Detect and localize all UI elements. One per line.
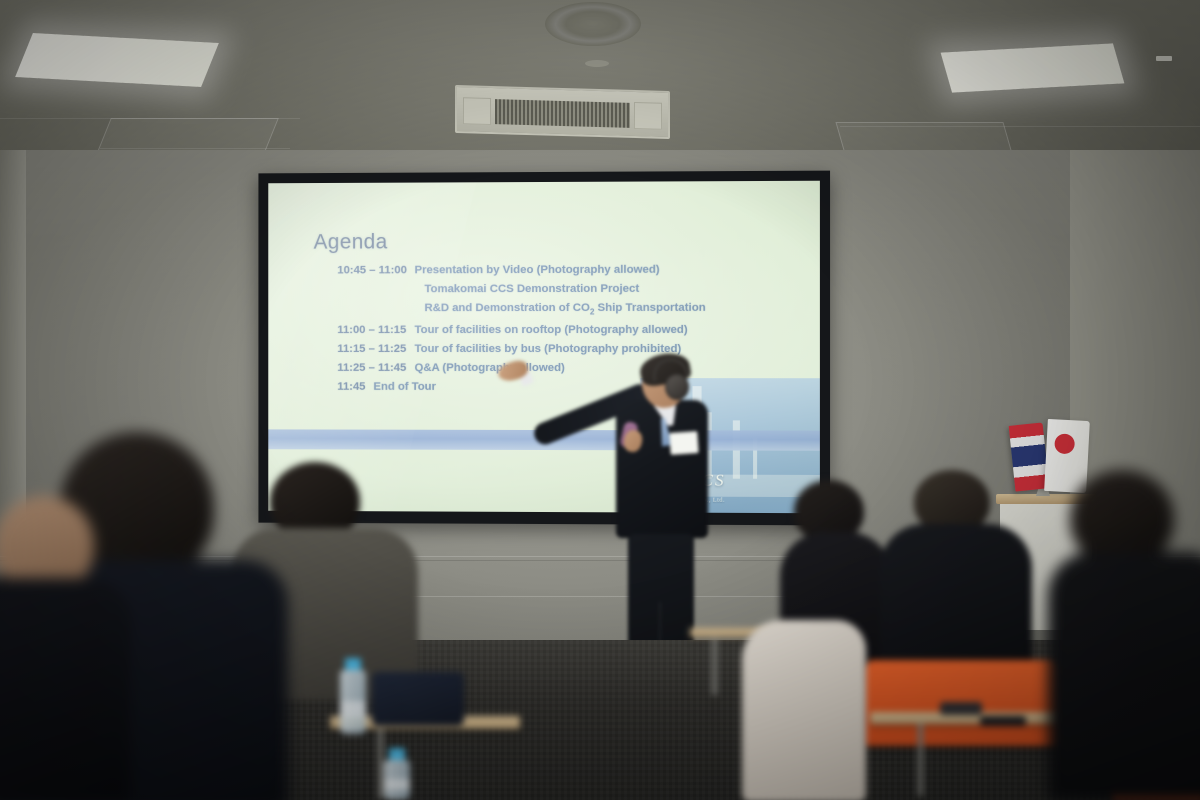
agenda-text: Presentation by Video (Photography allow… [415,264,660,277]
ceiling-air-vent [455,85,670,139]
agenda-text: R&D and Demonstration of CO2 Ship Transp… [415,302,706,317]
agenda-time: 10:45 – 11:00 [337,264,414,276]
agenda-text: Tour of facilities on rooftop (Photograp… [415,324,688,336]
agenda-text: Tomakomai CCS Demonstration Project [415,283,640,295]
attendee-far-right [1048,470,1200,800]
ceiling-light-recess-left [97,118,279,152]
attendee-torso [0,578,130,800]
slide-title: Agenda [314,230,388,254]
japan-flag-disc [1054,434,1075,455]
attendee-torso [1048,552,1200,800]
agenda-time: 11:45 [337,381,373,393]
attendee-right-c [742,620,862,800]
attendee-left [0,496,120,800]
attendee-torso [742,620,866,800]
conference-room-photo: JCCS Japan CCS Co., Ltd. Agenda 10:45 – … [0,0,1200,800]
ceiling-speaker-icon [545,2,641,46]
desk-object [940,702,982,715]
agenda-row: Tomakomai CCS Demonstration Project [337,283,805,296]
desk-leg [378,729,383,799]
desk-leg [712,637,717,695]
desk-leg [918,724,923,796]
headset-earcup-icon [665,374,689,400]
agenda-text: End of Tour [373,381,436,393]
agenda-row: 11:00 – 11:15 Tour of facilities on roof… [337,324,805,336]
water-bottle [384,748,410,800]
bottle-label [340,701,366,718]
agenda-time: 11:25 – 11:45 [337,362,414,374]
agenda-row: 10:45 – 11:00 Presentation by Video (Pho… [337,263,805,276]
ceiling-sensor-icon [585,60,609,67]
bottle-body [384,760,410,800]
folded-jacket [372,672,464,726]
water-bottle [340,658,366,734]
agenda-time: 11:00 – 11:15 [337,324,414,336]
desk-object [980,716,1026,726]
presenter-name-badge [669,431,698,455]
vent-louver-right [634,102,661,130]
wall-fixture-icon [1156,56,1172,61]
vent-louver-left [463,97,490,125]
agenda-text: Q&A (Photography allowed) [415,362,565,374]
bottle-body [340,670,366,734]
agenda-row: R&D and Demonstration of CO2 Ship Transp… [337,302,805,317]
agenda-time: 11:15 – 11:25 [337,343,414,355]
bottle-label [384,779,410,789]
vent-grille [495,99,630,128]
